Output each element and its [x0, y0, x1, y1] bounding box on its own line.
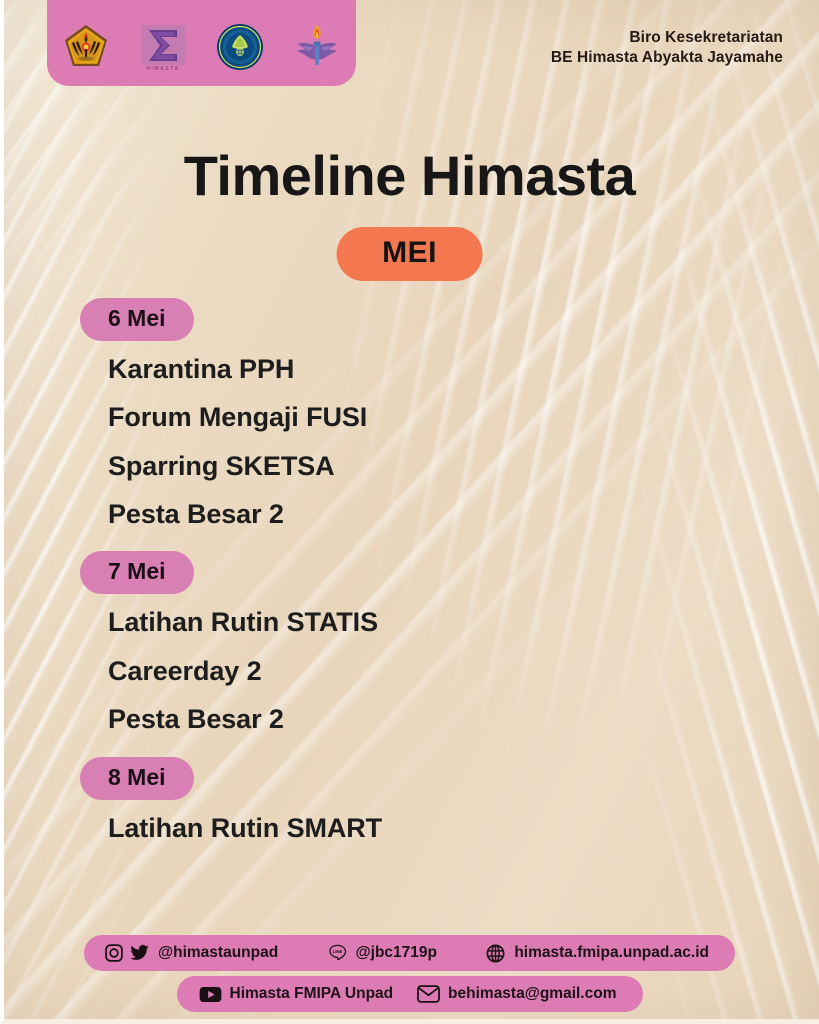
organization-header: Biro Kesekretariatan BE Himasta Abyakta … — [551, 28, 783, 69]
date-badge: 7 Mei — [80, 551, 194, 594]
footer: @himastaunpad LINE @jbc1719p — [0, 935, 819, 1012]
date-badge: 8 Mei — [80, 757, 194, 800]
website-url: himasta.fmipa.unpad.ac.id — [514, 944, 709, 962]
social-instagram-twitter[interactable]: @himastaunpad — [104, 943, 278, 963]
event-item: Pesta Besar 2 — [108, 492, 720, 537]
instagram-twitter-handle: @himastaunpad — [158, 944, 278, 962]
event-item: Karantina PPH — [108, 347, 720, 392]
website-link[interactable]: himasta.fmipa.unpad.ac.id — [485, 943, 709, 964]
event-item: Forum Mengaji FUSI — [108, 395, 720, 440]
social-line[interactable]: LINE @jbc1719p — [327, 943, 437, 963]
svg-text:HIMASTA: HIMASTA — [146, 66, 180, 72]
event-item: Latihan Rutin STATIS — [108, 600, 720, 645]
instagram-icon[interactable] — [104, 943, 124, 963]
timeline-group: 8 Mei Latihan Rutin SMART — [80, 757, 720, 851]
twitter-icon[interactable] — [129, 943, 150, 963]
email-icon[interactable] — [417, 985, 440, 1003]
event-item: Pesta Besar 2 — [108, 697, 720, 742]
winged-torch-logo — [292, 22, 342, 72]
timeline-group: 7 Mei Latihan Rutin STATIS Careerday 2 P… — [80, 551, 720, 742]
date-badge: 6 Mei — [80, 298, 194, 341]
event-item: Careerday 2 — [108, 649, 720, 694]
contact-pill-primary: @himastaunpad LINE @jbc1719p — [84, 935, 735, 971]
page-title: Timeline Himasta — [0, 143, 819, 208]
globe-icon[interactable] — [485, 943, 506, 964]
youtube-channel: Himasta FMIPA Unpad — [230, 985, 394, 1003]
timeline-group: 6 Mei Karantina PPH Forum Mengaji FUSI S… — [80, 298, 720, 537]
line-handle: @jbc1719p — [356, 944, 437, 962]
event-item: Sparring SKETSA — [108, 444, 720, 489]
bem-seal-logo — [215, 22, 265, 72]
email-address: behimasta@gmail.com — [448, 985, 616, 1003]
svg-text:LINE: LINE — [332, 949, 342, 954]
org-line-1: Biro Kesekretariatan — [551, 28, 783, 48]
timeline-list: 6 Mei Karantina PPH Forum Mengaji FUSI S… — [80, 298, 720, 854]
himasta-sigma-logo: HIMASTA — [138, 22, 188, 72]
poster-canvas: HIMASTA — [0, 0, 819, 1024]
email-contact[interactable]: behimasta@gmail.com — [417, 985, 616, 1003]
youtube-icon[interactable] — [199, 986, 222, 1003]
contact-pill-secondary: Himasta FMIPA Unpad behimasta@gmail.com — [177, 976, 643, 1012]
event-item: Latihan Rutin SMART — [108, 806, 720, 851]
line-icon[interactable]: LINE — [327, 943, 348, 963]
social-youtube[interactable]: Himasta FMIPA Unpad — [199, 985, 394, 1003]
footer-row-top: @himastaunpad LINE @jbc1719p — [0, 935, 819, 971]
unpad-logo — [61, 22, 111, 72]
month-badge: MEI — [336, 227, 483, 281]
footer-row-bottom: Himasta FMIPA Unpad behimasta@gmail.com — [0, 971, 819, 1012]
logo-bar: HIMASTA — [47, 0, 356, 86]
org-line-2: BE Himasta Abyakta Jayamahe — [551, 48, 783, 68]
